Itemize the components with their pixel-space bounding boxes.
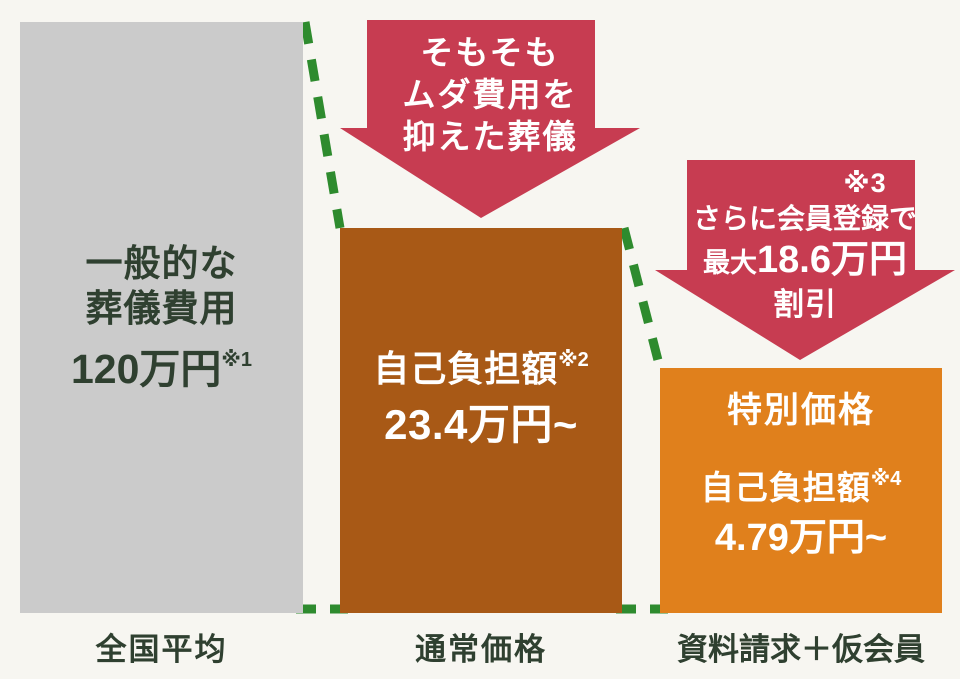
- category-label-normal-price: 通常価格: [340, 624, 622, 669]
- bar-average-title-line1: 一般的な: [86, 242, 238, 286]
- funeral-cost-comparison-chart: 一般的な 葬儀費用 120万円※1 自己負担額※2 23.4万円~ 特別価格 自…: [0, 0, 960, 679]
- bar-national-average: 一般的な 葬儀費用 120万円※1: [20, 22, 303, 613]
- bar-special-price: 特別価格 自己負担額※4 4.79万円~: [660, 368, 942, 613]
- category-label-national-average: 全国平均: [20, 624, 303, 669]
- bar-average-amount-row: 120万円※1: [71, 345, 252, 393]
- arrow-member-discount: ※3 さらに会員登録で 最大18.6万円 割引: [655, 160, 955, 360]
- bar-average-title-line2: 葬儀費用: [86, 287, 238, 331]
- bar-special-label-row: 自己負担額※4: [660, 469, 942, 508]
- down-arrow-icon: [655, 160, 955, 360]
- bar-special-footnote: ※4: [871, 468, 902, 490]
- bar-normal-price: 自己負担額※2 23.4万円~: [340, 228, 622, 613]
- bar-special-label: 自己負担額: [701, 469, 871, 506]
- bar-special-title: 特別価格: [660, 390, 942, 431]
- bar-average-amount: 120万円: [71, 345, 221, 393]
- bar-normal-label: 自己負担額: [373, 348, 558, 389]
- bar-special-amount: 4.79万円~: [660, 516, 942, 561]
- down-arrow-icon: [340, 20, 640, 220]
- arrow-waste-reduction: そもそも ムダ費用を 抑えた葬儀: [340, 20, 640, 220]
- bar-normal-footnote: ※2: [558, 349, 589, 371]
- bar-normal-label-row: 自己負担額※2: [340, 348, 622, 390]
- bar-normal-amount: 23.4万円~: [340, 400, 622, 450]
- category-label-special-price: 資料請求＋仮会員: [655, 624, 947, 669]
- bar-average-footnote: ※1: [221, 349, 252, 371]
